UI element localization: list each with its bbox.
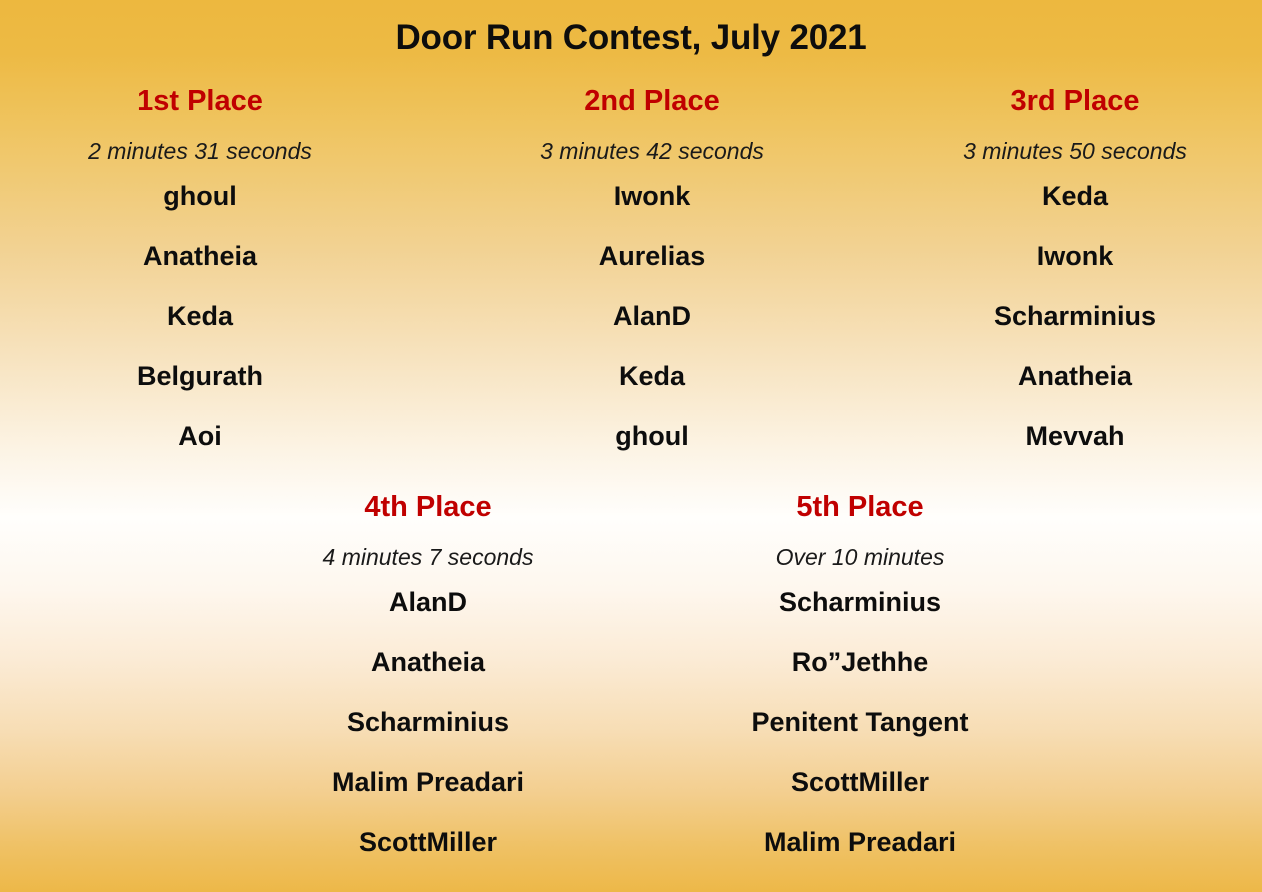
runner-name: ScottMiller	[228, 829, 628, 856]
runner-name: Belgurath	[0, 363, 400, 390]
place-heading: 1st Place	[0, 86, 400, 116]
place-column-5th: 5th Place Over 10 minutes Scharminius Ro…	[660, 492, 1060, 856]
runner-name: Anatheia	[875, 363, 1262, 390]
place-heading: 4th Place	[228, 492, 628, 522]
runner-name: Scharminius	[875, 303, 1262, 330]
place-heading: 3rd Place	[875, 86, 1262, 116]
runner-name: Aoi	[0, 423, 400, 450]
place-time: 4 minutes 7 seconds	[228, 544, 628, 571]
runner-name: Scharminius	[228, 709, 628, 736]
runner-name: Keda	[0, 303, 400, 330]
runner-name: Penitent Tangent	[660, 709, 1060, 736]
runner-name: Anatheia	[0, 243, 400, 270]
place-column-2nd: 2nd Place 3 minutes 42 seconds Iwonk Aur…	[452, 86, 852, 450]
place-column-4th: 4th Place 4 minutes 7 seconds AlanD Anat…	[228, 492, 628, 856]
runner-list: Scharminius Ro”Jethhe Penitent Tangent S…	[660, 589, 1060, 856]
runner-list: AlanD Anatheia Scharminius Malim Preadar…	[228, 589, 628, 856]
runner-name: Aurelias	[452, 243, 852, 270]
runner-name: Mevvah	[875, 423, 1262, 450]
place-time: 3 minutes 50 seconds	[875, 138, 1262, 165]
runner-name: AlanD	[452, 303, 852, 330]
runner-name: Iwonk	[452, 183, 852, 210]
slide-canvas: Door Run Contest, July 2021 1st Place 2 …	[0, 0, 1262, 892]
runner-name: AlanD	[228, 589, 628, 616]
page-title: Door Run Contest, July 2021	[0, 18, 1262, 58]
runner-name: ghoul	[452, 423, 852, 450]
runner-name: ScottMiller	[660, 769, 1060, 796]
runner-list: Keda Iwonk Scharminius Anatheia Mevvah	[875, 183, 1262, 450]
place-time: Over 10 minutes	[660, 544, 1060, 571]
runner-name: Iwonk	[875, 243, 1262, 270]
runner-name: Keda	[875, 183, 1262, 210]
place-heading: 2nd Place	[452, 86, 852, 116]
runner-list: ghoul Anatheia Keda Belgurath Aoi	[0, 183, 400, 450]
place-heading: 5th Place	[660, 492, 1060, 522]
place-column-3rd: 3rd Place 3 minutes 50 seconds Keda Iwon…	[875, 86, 1262, 450]
runner-name: Anatheia	[228, 649, 628, 676]
runner-name: Malim Preadari	[660, 829, 1060, 856]
place-time: 3 minutes 42 seconds	[452, 138, 852, 165]
place-column-1st: 1st Place 2 minutes 31 seconds ghoul Ana…	[0, 86, 400, 450]
runner-name: Malim Preadari	[228, 769, 628, 796]
runner-name: ghoul	[0, 183, 400, 210]
place-time: 2 minutes 31 seconds	[0, 138, 400, 165]
runner-name: Scharminius	[660, 589, 1060, 616]
runner-name: Ro”Jethhe	[660, 649, 1060, 676]
runner-list: Iwonk Aurelias AlanD Keda ghoul	[452, 183, 852, 450]
runner-name: Keda	[452, 363, 852, 390]
